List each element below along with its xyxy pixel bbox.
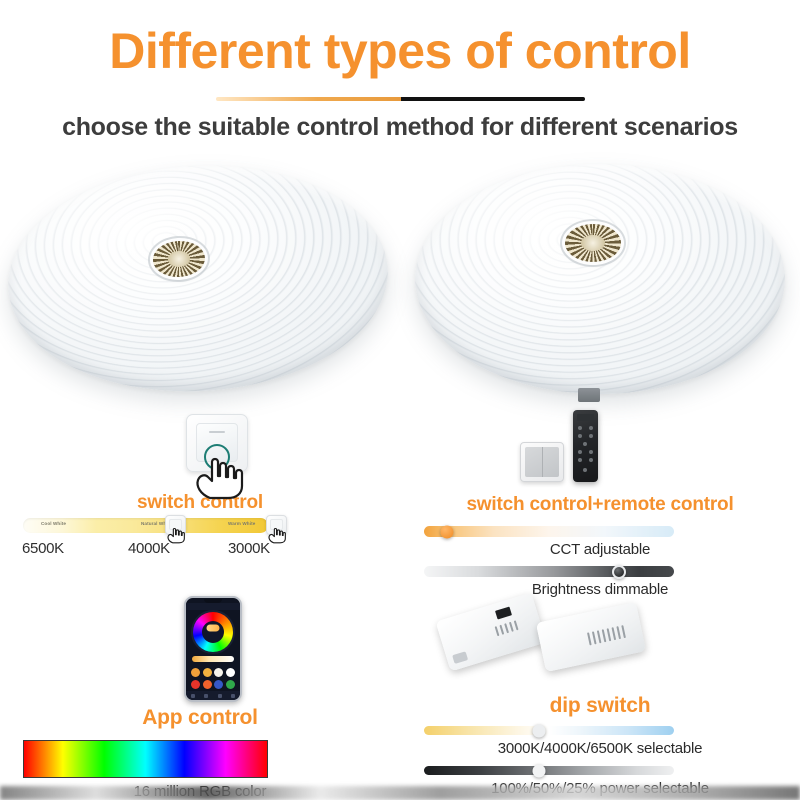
remote-button	[589, 450, 593, 454]
dip-cct-slider-knob[interactable]	[533, 724, 546, 737]
dip-switch-illustration	[400, 594, 800, 694]
hand-cursor-icon	[192, 448, 252, 500]
gang-switch-divider	[542, 447, 543, 477]
infographic-page: Different types of control choose the su…	[0, 0, 800, 800]
dip-power-slider[interactable]	[424, 766, 674, 775]
brightness-slider-knob[interactable]	[612, 565, 626, 579]
color-swatch[interactable]	[191, 668, 200, 677]
phone-notch	[204, 599, 222, 603]
divider-right-half	[401, 97, 586, 101]
phone-tab-bar[interactable]	[186, 691, 240, 700]
lamp-photo-right	[400, 152, 800, 410]
phone-brightness-slider[interactable]	[192, 656, 234, 662]
remote-button	[578, 458, 582, 462]
phone-tab-icon[interactable]	[218, 694, 222, 698]
cct-adjustable-control: CCT adjustable	[400, 526, 800, 564]
color-swatch[interactable]	[226, 668, 235, 677]
dip-power-slider-knob[interactable]	[533, 764, 546, 777]
ceiling-lamp-tilted	[2, 156, 393, 401]
kelvin-label-3000k: 3000K	[228, 540, 270, 557]
lamp-center-medallion	[565, 224, 621, 262]
color-wheel[interactable]	[193, 612, 233, 652]
remote-button	[578, 450, 582, 454]
app-control-label: App control	[0, 706, 400, 730]
dip-cct-control: 3000K/4000K/6500K selectable	[400, 726, 800, 764]
remote-button	[589, 426, 593, 430]
cct-stop-label-warm: Warm White	[228, 521, 255, 526]
wall-switch-2gang-icon[interactable]	[520, 442, 564, 482]
lamp-rim	[2, 156, 393, 401]
led-driver-module-right	[536, 602, 646, 672]
dip-cct-slider[interactable]	[424, 726, 674, 735]
cct-adjustable-slider[interactable]	[424, 526, 674, 537]
color-swatch[interactable]	[203, 668, 212, 677]
smartphone-icon[interactable]	[184, 596, 242, 702]
product-photos	[0, 152, 800, 410]
phone-tab-icon[interactable]	[191, 694, 195, 698]
remote-button	[578, 426, 582, 430]
section-app-control: App control 16 million RGB color	[0, 594, 400, 794]
rgb-spectrum-bar[interactable]	[23, 740, 268, 778]
cct-stop-label-cool: Cool White	[41, 521, 66, 526]
cct-adjustable-caption: CCT adjustable	[400, 541, 800, 558]
phone-tab-icon[interactable]	[231, 694, 235, 698]
remote-button	[589, 458, 593, 462]
cct-slider-knob[interactable]	[440, 525, 453, 538]
header: Different types of control choose the su…	[0, 0, 800, 150]
section-dip-switch: dip switch 3000K/4000K/6500K selectable …	[400, 594, 800, 794]
remote-button	[578, 434, 582, 438]
kelvin-label-4000k: 4000K	[128, 540, 170, 557]
remote-button	[583, 468, 587, 472]
switch-remote-illustration	[400, 408, 800, 494]
color-swatch[interactable]	[214, 668, 223, 677]
bottom-image-strip	[0, 786, 800, 800]
remote-button	[583, 442, 587, 446]
remote-screen	[577, 414, 594, 421]
color-swatch[interactable]	[191, 680, 200, 689]
cct-step-bar: Cool White Natural White Warm White 6500…	[0, 514, 400, 570]
driver-top-face	[436, 593, 547, 672]
lamp-rim	[415, 164, 785, 394]
switch-control-illustration	[0, 408, 400, 492]
phone-tab-icon[interactable]	[204, 694, 208, 698]
app-control-illustration	[0, 594, 400, 706]
remote-button	[589, 434, 593, 438]
dip-switch-label: dip switch	[400, 694, 800, 718]
section-switch-control: switch control Cool White Natural White …	[0, 408, 400, 598]
section-switch-remote-control: switch control+remote control CCT adjust…	[400, 408, 800, 598]
title-divider	[216, 97, 585, 101]
remote-control-icon[interactable]	[573, 410, 598, 482]
mini-hand-cursor-icon-2	[267, 524, 289, 544]
color-wheel-center-swatch	[207, 625, 220, 632]
color-swatch[interactable]	[214, 680, 223, 689]
color-swatch[interactable]	[226, 680, 235, 689]
switch-remote-label: switch control+remote control	[400, 494, 800, 516]
page-title: Different types of control	[0, 26, 800, 76]
ceiling-lamp-front	[415, 164, 785, 394]
led-driver-module-left	[436, 593, 547, 672]
kelvin-label-6500k: 6500K	[22, 540, 64, 557]
dip-cct-caption: 3000K/4000K/6500K selectable	[400, 740, 800, 757]
driver-top-face	[536, 602, 646, 672]
brightness-dimmable-slider[interactable]	[424, 566, 674, 577]
phone-app-header	[186, 603, 240, 610]
page-subtitle: choose the suitable control method for d…	[0, 113, 800, 142]
lamp-photo-left	[0, 152, 400, 410]
lamp-mount-bracket	[578, 388, 600, 402]
switch-indicator-line	[209, 431, 225, 433]
divider-left-half	[216, 97, 401, 101]
color-swatch[interactable]	[203, 680, 212, 689]
